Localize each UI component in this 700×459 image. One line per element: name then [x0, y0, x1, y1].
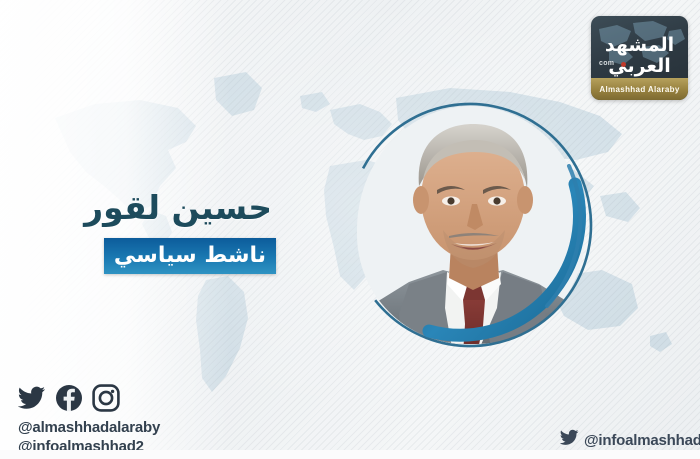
logo-arabic-line1: المشهد	[591, 36, 688, 55]
social-icons-row	[18, 384, 160, 412]
logo-arabic-text: المشهد العربي	[591, 36, 688, 76]
bottom-right-handle: @infoalmashhad2	[584, 432, 700, 449]
logo-latin-text: Almashhad Alaraby	[599, 85, 679, 94]
instagram-icon[interactable]	[92, 384, 120, 412]
portrait-container	[333, 88, 608, 363]
facebook-icon[interactable]	[55, 384, 83, 412]
status-badge: ناشط سياسي	[104, 238, 276, 274]
twitter-icon[interactable]	[560, 428, 579, 452]
social-block: @almashhadalaraby @infoalmashhad2	[18, 384, 160, 456]
social-media-card: المشهد العربي com Almashhad Alaraby	[0, 0, 700, 459]
portrait-ring-decoration	[333, 88, 608, 363]
bottom-right-handle-group: @infoalmashhad2	[560, 428, 700, 452]
logo-com-text: com	[599, 60, 614, 67]
twitter-icon[interactable]	[18, 384, 46, 412]
bottom-white-strip	[0, 450, 700, 459]
page-title: حسين لقور	[0, 189, 290, 227]
status-badge-label: ناشط سياسي	[114, 245, 266, 267]
logo-red-dot-icon	[621, 62, 626, 67]
handle-primary: @almashhadalaraby	[18, 418, 160, 437]
